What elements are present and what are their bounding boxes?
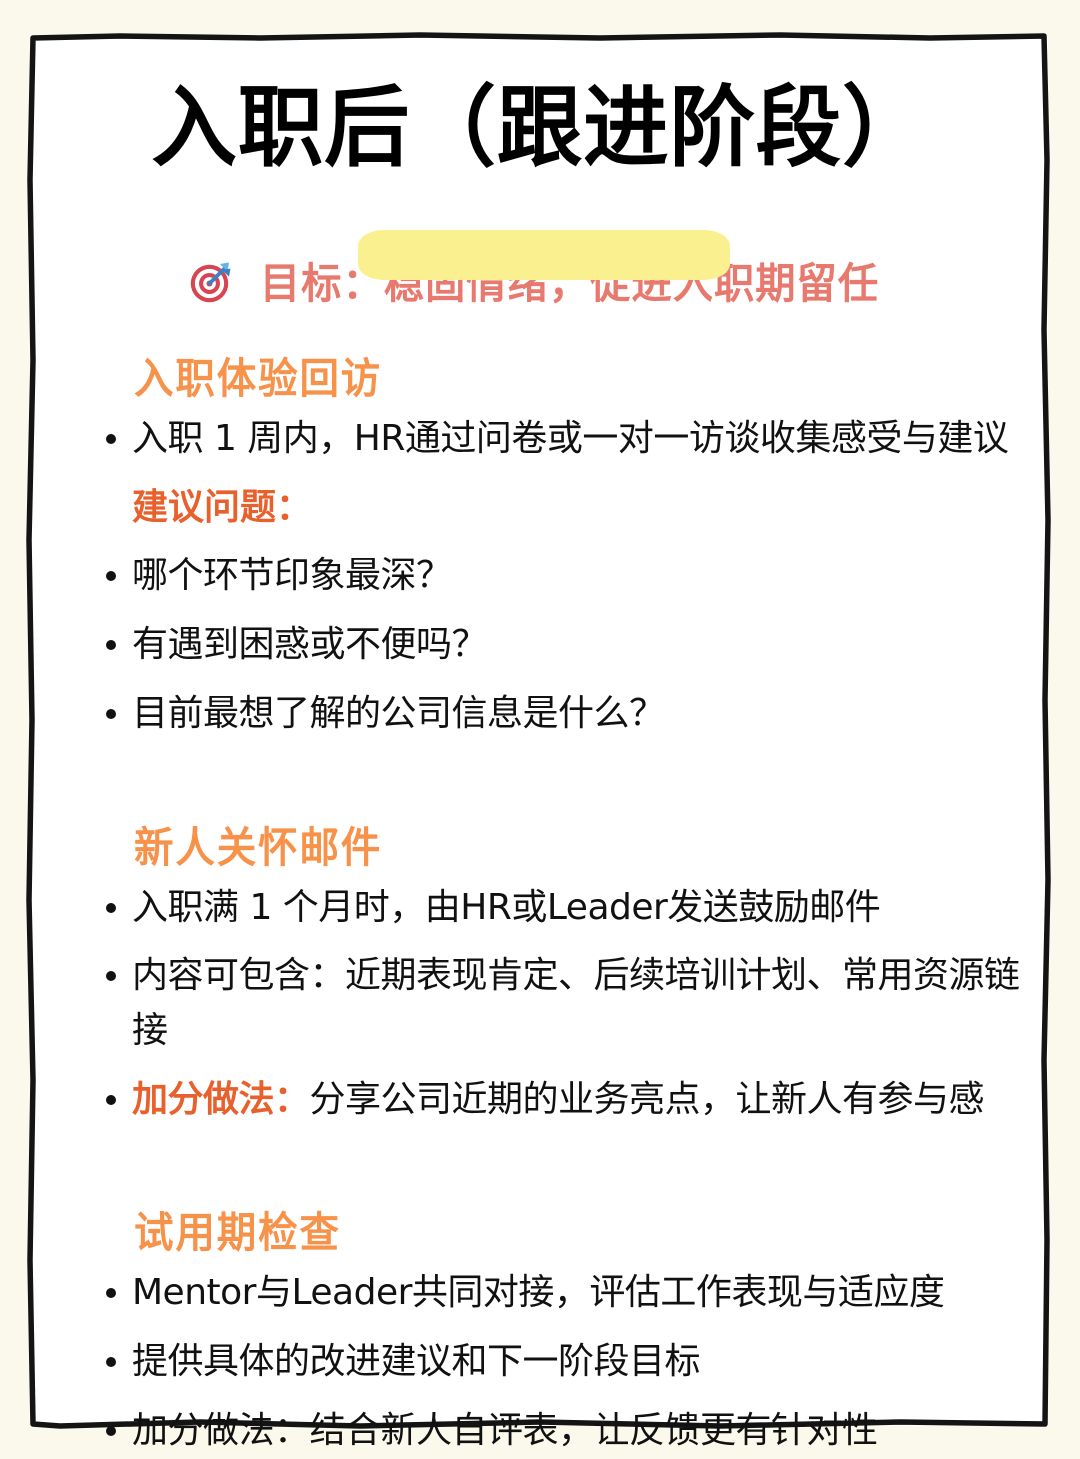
list-item: 目前最想了解的公司信息是什么？ (98, 687, 1026, 742)
list-item: 加分做法：结合新人自评表，让反馈更有针对性 (98, 1404, 1026, 1459)
section-heading: 试用期检查 (134, 1199, 972, 1260)
list-item-lead: 加分做法： (132, 1079, 310, 1120)
list-item: 有遇到困惑或不便吗？ (98, 618, 1026, 673)
section-heading: 新人关怀邮件 (134, 814, 972, 875)
list-item: Mentor与Leader共同对接，评估工作表现与适应度 (98, 1266, 1026, 1321)
title-block: 入职后（跟进阶段） (32, 80, 1048, 200)
list-item: 入职满 1 个月时，由HR或Leader发送鼓励邮件 (98, 881, 1026, 936)
bullet-list: 入职 1 周内，HR通过问卷或一对一访谈收集感受与建议 建议问题： 哪个环节印象… (98, 412, 1026, 742)
section-probation-check: 试用期检查 Mentor与Leader共同对接，评估工作表现与适应度 提供具体的… (32, 1199, 1048, 1458)
section-care-email: 新人关怀邮件 入职满 1 个月时，由HR或Leader发送鼓励邮件 内容可包含：… (32, 814, 1048, 1128)
bullet-list: 入职满 1 个月时，由HR或Leader发送鼓励邮件 内容可包含：近期表现肯定、… (98, 881, 1026, 1128)
list-item: 入职 1 周内，HR通过问卷或一对一访谈收集感受与建议 (98, 412, 1026, 467)
page-title: 入职后（跟进阶段） (47, 80, 1033, 177)
section-heading: 入职体验回访 (134, 345, 972, 406)
list-item: 内容可包含：近期表现肯定、后续培训计划、常用资源链接 (98, 949, 1026, 1058)
list-item: 哪个环节印象最深？ (98, 549, 1026, 604)
list-item-text: 分享公司近期的业务亮点，让新人有参与感 (310, 1079, 985, 1120)
dart-target-icon (187, 258, 235, 306)
list-item: 提供具体的改进建议和下一阶段目标 (98, 1335, 1026, 1390)
title-highlight-marker (358, 230, 730, 280)
list-item: 加分做法：分享公司近期的业务亮点，让新人有参与感 (98, 1073, 1026, 1128)
sub-label: 建议问题： (98, 481, 1026, 536)
bullet-list: Mentor与Leader共同对接，评估工作表现与适应度 提供具体的改进建议和下… (98, 1266, 1026, 1458)
section-onboarding-review: 入职体验回访 入职 1 周内，HR通过问卷或一对一访谈收集感受与建议 建议问题：… (32, 345, 1048, 742)
note-content: 入职后（跟进阶段） 目标：稳固情绪，促进入职期留任 入职体验回访 入职 1 周内… (32, 36, 1048, 1426)
